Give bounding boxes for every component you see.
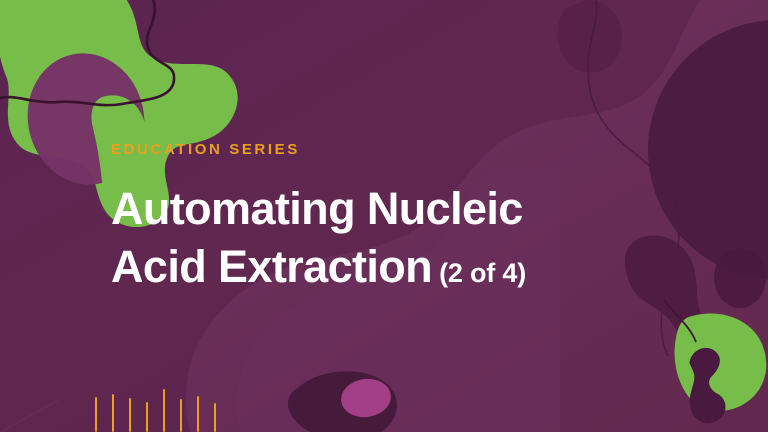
gold-tick-mark [197,396,199,432]
gold-tick-mark [112,394,114,432]
slide-text-block: EDUCATION SERIES Automating Nucleic Acid… [111,142,671,295]
gold-tick-marks [95,386,225,432]
dark-lobe-right [714,248,766,308]
gold-tick-mark [214,403,216,432]
title-line-1: Automating Nucleic [111,180,671,238]
eyebrow-label: EDUCATION SERIES [111,142,671,157]
gold-tick-mark [95,397,97,432]
gold-tick-mark [163,389,165,432]
page-title: Automating Nucleic Acid Extraction(2 of … [111,180,671,295]
title-card-slide: EDUCATION SERIES Automating Nucleic Acid… [0,0,768,432]
gold-tick-mark [129,398,131,432]
gold-tick-mark [180,399,182,432]
gold-tick-mark [146,402,148,432]
part-counter-label: (2 of 4) [439,258,526,288]
title-line-2: Acid Extraction [111,241,432,292]
title-line-2-wrap: Acid Extraction(2 of 4) [111,238,671,296]
